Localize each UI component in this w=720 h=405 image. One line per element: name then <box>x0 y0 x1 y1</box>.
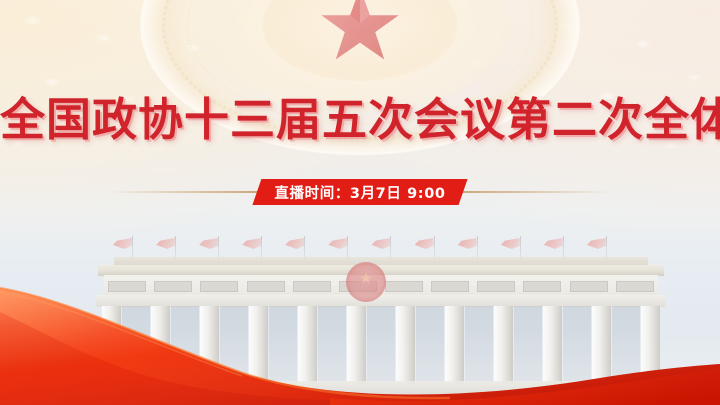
building-column <box>396 306 415 384</box>
building-column <box>494 306 513 384</box>
decorative-rule-left <box>108 191 258 193</box>
page-title: 全国政协十三届五次会议第二次全体会议 <box>0 96 720 145</box>
national-emblem-icon <box>346 262 386 302</box>
great-hall-of-the-people <box>78 235 682 405</box>
building-colonnade <box>102 306 660 384</box>
building-column <box>445 306 464 384</box>
building-plinth <box>84 381 676 395</box>
poster-canvas: 全国政协十三届五次会议第二次全体会议 直播时间：3月7日 9:00 <box>0 0 720 405</box>
decorative-rule-right <box>462 191 612 193</box>
building-column <box>543 306 562 384</box>
building-column <box>347 306 366 384</box>
building-column <box>298 306 317 384</box>
subtitle-banner-row: 直播时间：3月7日 9:00 <box>0 178 720 206</box>
building-column <box>200 306 219 384</box>
building-column <box>151 306 170 384</box>
red-star-icon <box>318 0 402 69</box>
building-column <box>102 306 121 384</box>
building-column <box>592 306 611 384</box>
building-column <box>249 306 268 384</box>
broadcast-time-badge: 直播时间：3月7日 9:00 <box>252 179 467 205</box>
building-column <box>641 306 660 384</box>
